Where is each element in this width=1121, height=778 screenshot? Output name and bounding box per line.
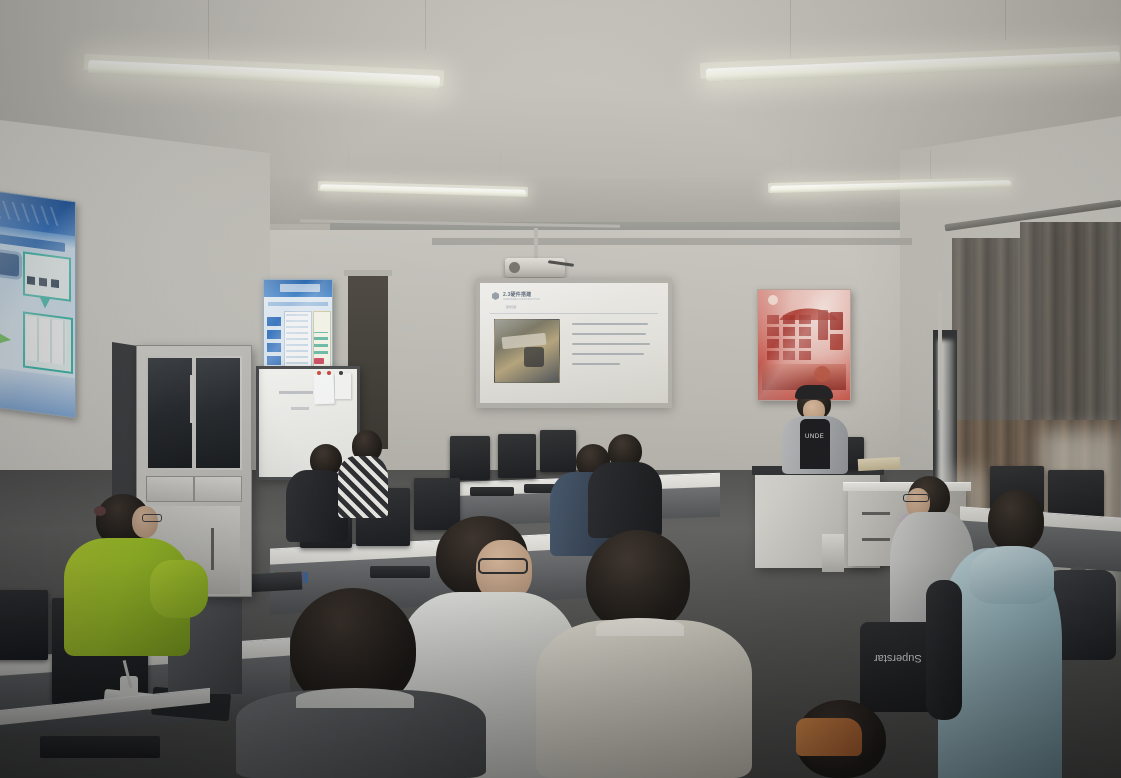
monitor[interactable]: [414, 478, 460, 530]
student-patterned-top-torso: [338, 456, 388, 518]
magnet-icon[interactable]: [327, 371, 331, 375]
poster-glass-reflection: [264, 280, 332, 373]
whiteboard-note-paper[interactable]: [335, 373, 351, 399]
student-green-jacket-arm: [150, 560, 208, 618]
student-cream-shirt-torso: [536, 620, 752, 778]
cabinet-drawer-left[interactable]: [146, 476, 194, 502]
poster-mid-blue[interactable]: [263, 279, 333, 374]
presenter-shirt: [800, 419, 830, 469]
keyboard[interactable]: [470, 487, 514, 496]
light-wire: [790, 0, 791, 58]
student-blue-vest-head: [988, 490, 1044, 552]
door-frame: [344, 270, 392, 276]
podium-papers: [858, 457, 901, 471]
classroom-photo: 2.3硬件搭建 HARDWARE CONSTRUCTION 硬件搭建: [0, 0, 1121, 778]
projector-lens: [509, 262, 520, 273]
presenter-cap-icon: [795, 385, 833, 399]
light-wire: [500, 150, 501, 184]
light-wire: [425, 0, 426, 50]
whiteboard-writing: [279, 391, 313, 394]
student-cream-shirt-head: [586, 530, 690, 632]
hair-tie-icon: [94, 506, 106, 516]
magnet-icon[interactable]: [339, 371, 343, 375]
student-blue-vest-sleeve: [926, 580, 962, 720]
whiteboard-writing: [291, 407, 309, 410]
screen-sheen: [480, 283, 668, 403]
light-wire: [930, 150, 931, 180]
student-black-shirt-torso: [588, 462, 662, 538]
student-dark-shirt-collar: [296, 688, 414, 708]
projector-mount: [534, 228, 538, 260]
student-blue-vest-hood: [970, 546, 1054, 604]
whiteboard-note-paper[interactable]: [313, 374, 334, 405]
shoe: [796, 718, 862, 756]
presenter-shirt-text: UNDE: [805, 434, 824, 440]
keyboard[interactable]: [370, 566, 430, 578]
wall-conduit-pipe: [938, 290, 942, 410]
side-counter-top: [843, 482, 971, 491]
student-green-jacket-face: [132, 506, 158, 538]
student-cream-shirt-collar: [596, 618, 684, 636]
trash-bin[interactable]: [822, 534, 844, 572]
magnet-icon[interactable]: [317, 371, 321, 375]
glasses-icon: [903, 494, 929, 502]
cabinet-door-handle[interactable]: [190, 375, 194, 423]
cabinet-drawer-handle[interactable]: [862, 538, 890, 541]
poster-glass-reflection: [0, 192, 75, 418]
light-wire: [208, 0, 209, 62]
glasses-icon: [478, 558, 528, 574]
cabinet-drawer-handle[interactable]: [862, 512, 890, 515]
monitor[interactable]: [0, 590, 48, 660]
monitor[interactable]: [540, 430, 576, 472]
poster-left-blue[interactable]: [0, 191, 76, 419]
cabinet-glass-door-left[interactable]: [146, 356, 194, 470]
keyboard[interactable]: [40, 736, 160, 758]
projection-screen[interactable]: 2.3硬件搭建 HARDWARE CONSTRUCTION 硬件搭建: [480, 283, 668, 403]
cabinet-drawer-right[interactable]: [194, 476, 242, 502]
pants-brand-text: Superstar: [874, 652, 922, 664]
monitor[interactable]: [450, 436, 490, 480]
poster-glass-reflection: [758, 290, 850, 400]
light-wire: [1005, 0, 1006, 40]
monitor[interactable]: [498, 434, 536, 478]
light-wire: [790, 150, 791, 184]
monitor[interactable]: [1048, 470, 1104, 518]
cabinet-glass-door-right[interactable]: [194, 356, 242, 470]
ceiling-duct: [432, 238, 912, 245]
glasses-icon: [142, 514, 162, 522]
cabinet-lower-handle[interactable]: [211, 528, 214, 570]
